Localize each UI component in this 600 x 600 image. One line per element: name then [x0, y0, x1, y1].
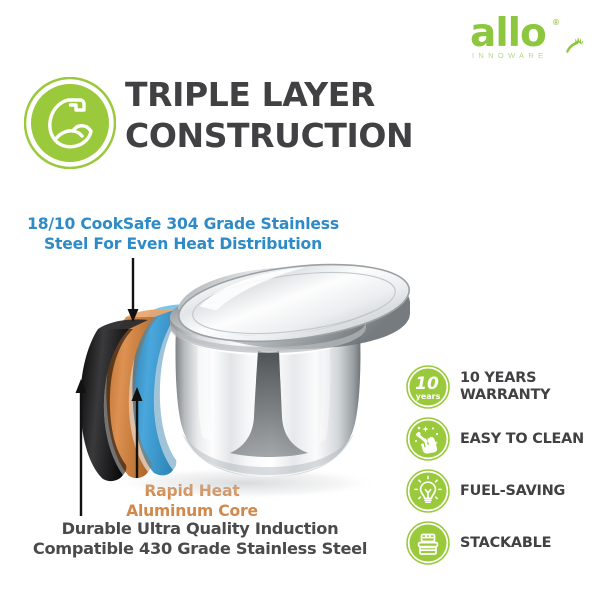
- feature-item-stackable: STACKABLE: [406, 521, 600, 573]
- feature-label-warranty-line1: 10 YEARS: [460, 370, 536, 386]
- page-title: TRIPLE LAYER CONSTRUCTION: [125, 74, 525, 156]
- ten-years-badge-icon: 10 years: [406, 365, 450, 409]
- callout-induction-430-line1: Durable Ultra Quality Induction: [62, 519, 339, 538]
- callout-stainless-304: 18/10 CookSafe 304 Grade Stainless Steel…: [18, 214, 348, 254]
- feature-label-warranty-line2: WARRANTY: [460, 387, 550, 403]
- flexed-bicep-icon: [24, 77, 116, 169]
- feature-label-fuel-saving: FUEL-SAVING: [460, 469, 600, 513]
- callout-stainless-304-line2: Steel For Even Heat Distribution: [44, 235, 322, 253]
- registered-mark: ®: [553, 18, 559, 27]
- callout-stainless-304-line1: 18/10 CookSafe 304 Grade Stainless: [27, 215, 339, 233]
- brand-logo: allo ® INNOWARE: [470, 14, 590, 60]
- washing-hand-icon: [406, 417, 450, 461]
- feature-item-easy-to-clean: EASY TO CLEAN: [406, 417, 600, 469]
- page-title-line1: TRIPLE LAYER: [125, 75, 375, 114]
- feature-label-fuel-saving-line1: FUEL-SAVING: [460, 483, 565, 500]
- callout-induction-430-line2: Compatible 430 Grade Stainless Steel: [33, 539, 367, 558]
- badge-number: 10: [415, 374, 439, 394]
- brand-subtitle: INNOWARE: [472, 51, 547, 60]
- feature-label-stackable: STACKABLE: [460, 521, 600, 565]
- page-title-line2: CONSTRUCTION: [125, 115, 525, 156]
- feature-item-warranty: 10 years 10 YEARS WARRANTY: [406, 365, 600, 417]
- leaf-icon: [564, 36, 584, 59]
- feature-label-easy-to-clean: EASY TO CLEAN: [460, 417, 600, 461]
- feature-list: 10 years 10 YEARS WARRANTY: [406, 365, 600, 573]
- feature-item-fuel-saving: FUEL-SAVING: [406, 469, 600, 521]
- feature-label-warranty: 10 YEARS WARRANTY: [460, 365, 600, 409]
- feature-label-stackable-line1: STACKABLE: [460, 535, 551, 552]
- feature-label-easy-to-clean-line1: EASY TO CLEAN: [460, 431, 584, 448]
- lightbulb-icon: [406, 469, 450, 513]
- brand-name: allo: [470, 14, 546, 53]
- infographic-canvas: allo ® INNOWARE: [0, 0, 600, 600]
- stainless-steel-tope-with-lid: [30, 255, 440, 505]
- badge-unit: years: [416, 392, 441, 401]
- stacked-containers-icon: [406, 521, 450, 565]
- callout-induction-430: Durable Ultra Quality Induction Compatib…: [10, 519, 390, 559]
